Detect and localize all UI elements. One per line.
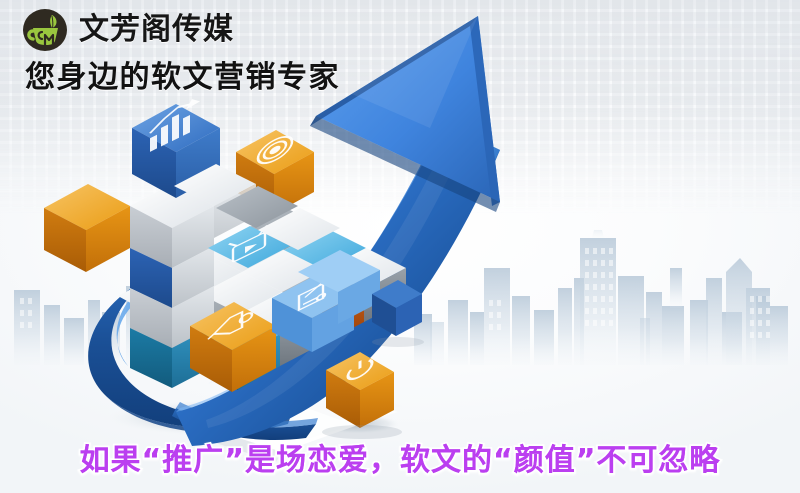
brand-name: 文芳阁传媒 [79, 15, 234, 45]
banner-header: 文芳阁传媒 您身边的软文营销专家 [22, 8, 340, 94]
cube-orange-left [44, 184, 130, 272]
brand-tagline: 您身边的软文营销专家 [25, 61, 340, 94]
marketing-banner: BUSINESS [0, 0, 800, 493]
coffee-cup-logo-icon [22, 8, 68, 52]
brand-line: 文芳阁传媒 [22, 8, 340, 52]
slogan-outline-layer: 如果“推广”是场恋爱，软文的“颜值”不可忽略 [0, 435, 800, 479]
slogan-text-outline: 如果“推广”是场恋爱，软文的“颜值”不可忽略 [80, 435, 721, 479]
